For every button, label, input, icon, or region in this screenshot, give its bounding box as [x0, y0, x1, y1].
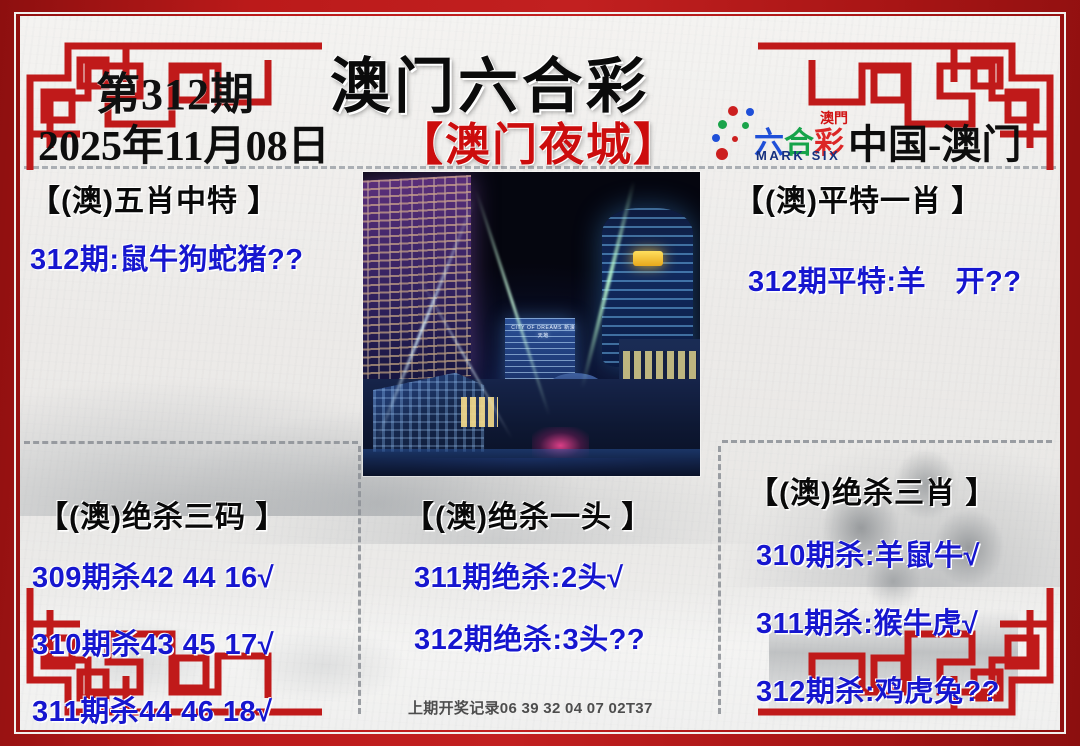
- lottery-poster: 第312期 澳门六合彩 2025年11月08日 【澳门夜城】 中国-澳门 澳門 …: [0, 0, 1080, 746]
- photo-building-sign: CITY OF DREAMS 新濠天地: [511, 324, 575, 339]
- previous-draw-record: 上期开奖记录06 39 32 04 07 02T37: [408, 697, 653, 718]
- panel-flat-special-zodiac: 【(澳)平特一肖 】 312期平特:羊 开??: [734, 176, 1021, 300]
- panel-kill-one-head-rows: 311期绝杀:2头√ 312期绝杀:3头??: [404, 554, 652, 658]
- divider-vertical-right: [718, 446, 721, 714]
- list-item: 310期杀:羊鼠牛√: [756, 532, 1000, 574]
- divider-right-middle: [722, 440, 1052, 443]
- photo-water-reflection: [363, 449, 700, 476]
- panel-kill-three-zodiac-title: 【(澳)绝杀三肖 】: [748, 468, 1000, 512]
- photo-crown-sign: [633, 251, 663, 266]
- list-item: 311期杀44 46 18√: [32, 688, 294, 730]
- panel-five-zodiac: 【(澳)五肖中特 】 312期:鼠牛狗蛇猪??: [28, 176, 303, 278]
- logo-english-text: MARK SIX: [756, 148, 840, 163]
- panel-kill-three-codes: 【(澳)绝杀三码 】 309期杀42 44 16√ 310期杀43 45 17√…: [30, 492, 294, 746]
- panel-kill-three-zodiac-rows: 310期杀:羊鼠牛√ 311期杀:猴牛虎√ 312期杀:鸡虎兔??: [748, 532, 1000, 710]
- panel-five-zodiac-line: 312期:鼠牛狗蛇猪??: [30, 236, 303, 278]
- panel-kill-three-zodiac: 【(澳)绝杀三肖 】 310期杀:羊鼠牛√ 311期杀:猴牛虎√ 312期杀:鸡…: [748, 468, 1000, 736]
- region-label: 中国-澳门: [848, 112, 1021, 170]
- list-item: 310期杀43 45 17√: [32, 621, 294, 663]
- list-item: 311期杀:猴牛虎√: [756, 600, 1000, 642]
- panel-kill-one-head: 【(澳)绝杀一头 】 311期绝杀:2头√ 312期绝杀:3头??: [404, 492, 652, 678]
- divider-left-middle: [24, 441, 358, 444]
- panel-flat-special-zodiac-line: 312期平特:羊 开??: [748, 258, 1021, 300]
- photo-left-tower-windows: [363, 175, 471, 382]
- draw-date: 2025年11月08日: [38, 112, 330, 173]
- mark-six-logo: 澳門 六合彩 MARK SIX: [712, 104, 848, 166]
- list-item: 309期杀42 44 16√: [32, 554, 294, 596]
- panel-kill-three-codes-title: 【(澳)绝杀三码 】: [38, 492, 294, 536]
- list-item: 312期绝杀:3头??: [414, 616, 652, 658]
- panel-kill-three-codes-rows: 309期杀42 44 16√ 310期杀43 45 17√ 311期杀44 46…: [30, 554, 294, 746]
- panel-five-zodiac-title: 【(澳)五肖中特 】: [30, 176, 303, 220]
- list-item: 312期杀:鸡虎兔??: [756, 668, 1000, 710]
- poster-header: 第312期 澳门六合彩 2025年11月08日 【澳门夜城】 中国-澳门 澳門 …: [0, 0, 1080, 160]
- divider-vertical-left: [358, 446, 361, 714]
- panel-flat-special-zodiac-title: 【(澳)平特一肖 】: [734, 176, 1021, 220]
- poster-subtitle: 【澳门夜城】: [398, 108, 680, 173]
- casino-night-photo: CITY OF DREAMS 新濠天地: [363, 172, 700, 476]
- panel-kill-one-head-title: 【(澳)绝杀一头 】: [404, 492, 652, 536]
- list-item: 311期绝杀:2头√: [414, 554, 652, 596]
